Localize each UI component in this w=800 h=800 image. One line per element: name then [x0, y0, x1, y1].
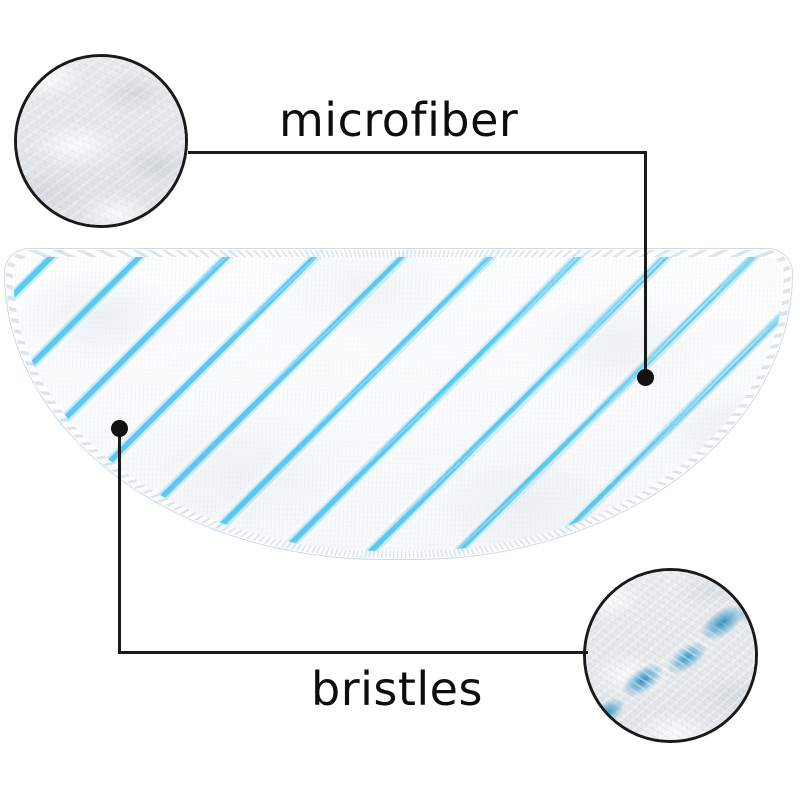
microfiber-leader-vertical — [644, 151, 647, 379]
microfiber-closeup-circle — [14, 54, 188, 228]
bristles-leader-horizontal — [118, 651, 588, 654]
bristles-leader-vertical — [118, 430, 121, 654]
bristles-closeup-circle — [583, 568, 758, 743]
product-annotation-image: microfiber bristles — [0, 0, 800, 800]
microfiber-leader-horizontal — [188, 151, 647, 154]
microfiber-fiber-strands — [14, 54, 188, 228]
bristles-leader-dot — [111, 420, 128, 437]
mop-pad — [4, 248, 793, 560]
bristles-label: bristles — [311, 666, 483, 712]
mop-pad-surface — [4, 248, 793, 560]
microfiber-leader-dot — [637, 369, 654, 386]
microfiber-label: microfiber — [279, 97, 518, 143]
mop-pad-stripe-fuzz-secondary — [4, 248, 793, 560]
